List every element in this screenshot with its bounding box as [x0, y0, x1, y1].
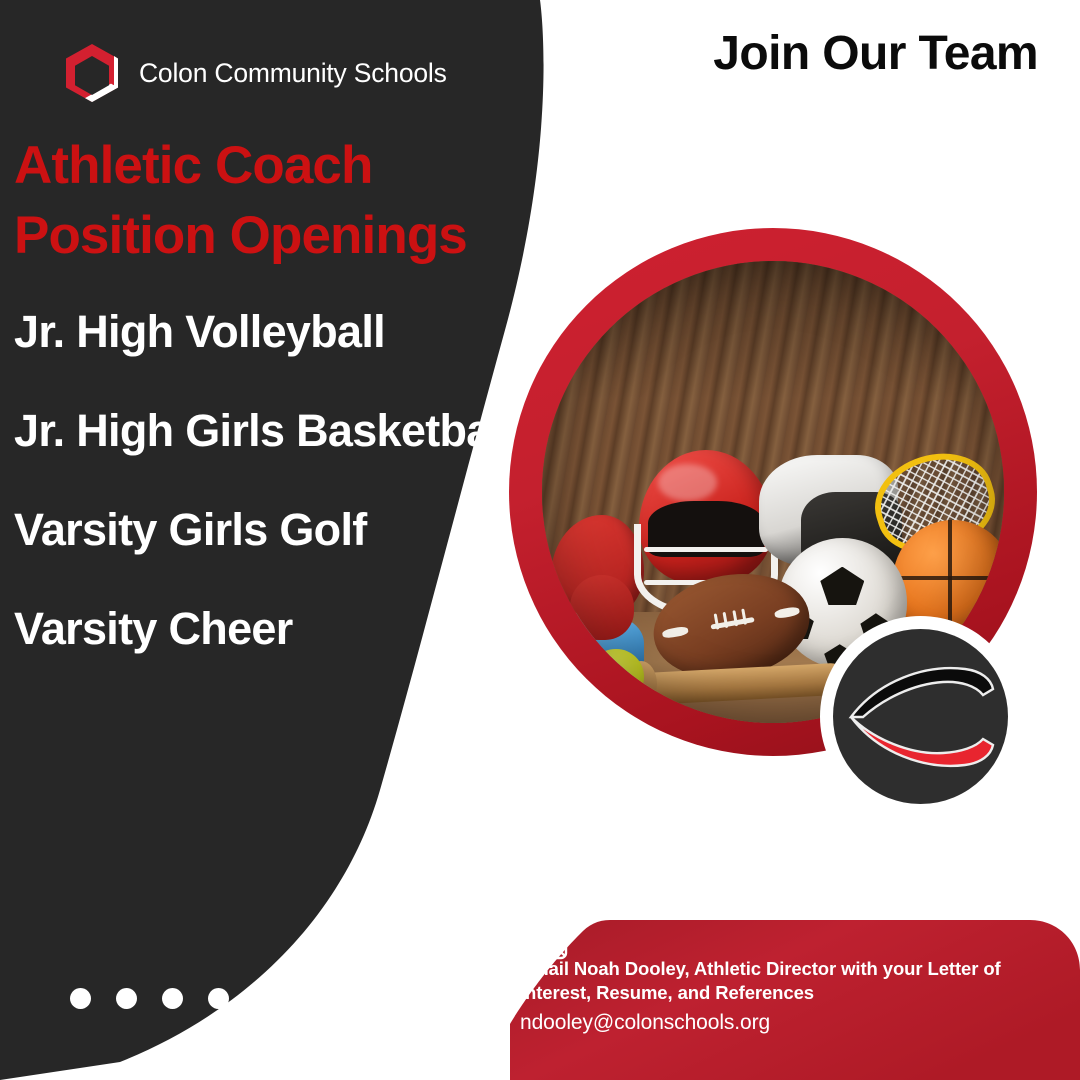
headline-line-1: Athletic Coach — [14, 131, 467, 201]
join-our-team-title: Join Our Team — [713, 26, 1038, 81]
headline-line-2: Position Openings — [14, 201, 467, 271]
brand-name: Colon Community Schools — [139, 58, 447, 89]
envelope-icon — [510, 914, 568, 960]
hexagon-ring-logo-icon — [64, 43, 120, 103]
football-stripe — [662, 626, 688, 639]
dot-icon — [208, 988, 229, 1009]
tennis-ball-icon — [588, 649, 643, 704]
boxing-glove-icon — [570, 575, 635, 640]
colon-c-logo-icon — [833, 629, 1008, 804]
poster-canvas: Colon Community Schools Join Our Team At… — [0, 0, 1080, 1080]
dot-icon — [70, 988, 91, 1009]
list-item: Varsity Cheer — [14, 602, 534, 655]
soccer-panel — [820, 567, 864, 606]
dot-icon — [162, 988, 183, 1009]
brand-lockup: Colon Community Schools — [64, 43, 447, 103]
contact-email[interactable]: ndooley@colonschools.org — [520, 1008, 1066, 1037]
page-title: Athletic Coach Position Openings — [14, 131, 467, 271]
contact-banner: Email Noah Dooley, Athletic Director wit… — [510, 914, 1080, 1080]
football-stripe — [773, 606, 799, 619]
position-list: Jr. High Volleyball Jr. High Girls Baske… — [14, 305, 534, 655]
dot-icon — [116, 988, 137, 1009]
helmet-facemask-bar — [644, 547, 769, 552]
contact-instructions: Email Noah Dooley, Athletic Director wit… — [520, 957, 1066, 1007]
list-item: Jr. High Volleyball — [14, 305, 534, 358]
decorative-dots — [70, 988, 229, 1009]
list-item: Jr. High Girls Basketball — [14, 404, 534, 457]
list-item: Varsity Girls Golf — [14, 503, 534, 556]
colon-c-badge — [833, 629, 1008, 804]
